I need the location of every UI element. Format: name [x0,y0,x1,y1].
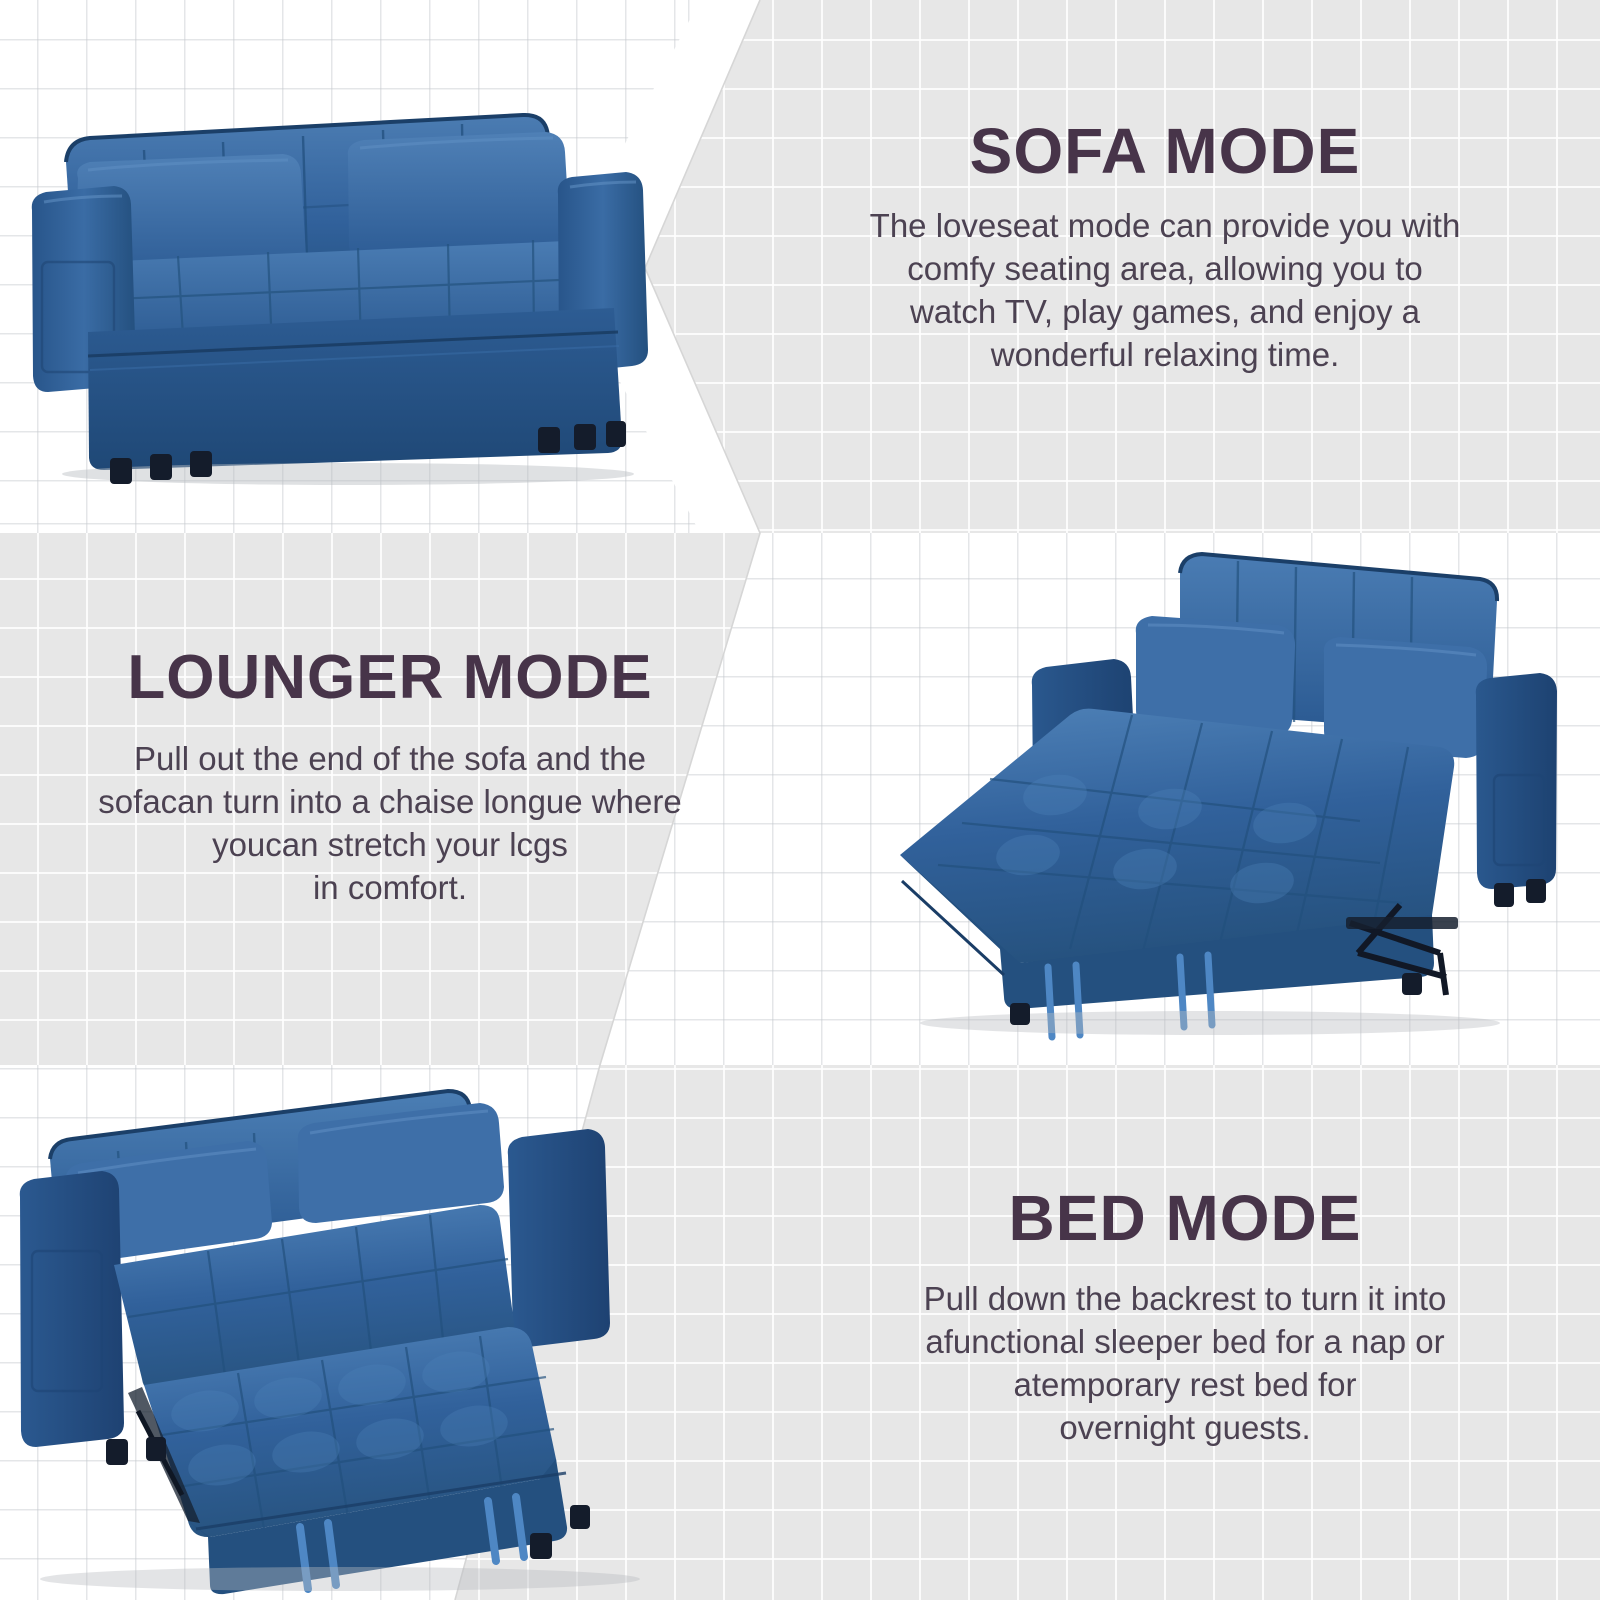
sofa-mode-text-block: SOFA MODE The loveseat mode can provide … [770,118,1560,377]
description-line: atemporary rest bed for [800,1364,1570,1407]
description-line: afunctional sleeper bed for a nap or [800,1321,1570,1364]
description-line: comfy seating area, allowing you to [770,248,1560,291]
description-line: Pull out the end of the sofa and the [10,738,770,781]
description-line: Pull down the backrest to turn it into [800,1278,1570,1321]
lounger-mode-description: Pull out the end of the sofa and the sof… [10,738,770,910]
bed-mode-description: Pull down the backrest to turn it into a… [800,1278,1570,1450]
description-line: The loveseat mode can provide you with [770,205,1560,248]
description-line: sofacan turn into a chaise longue where [10,781,770,824]
bed-mode-heading: BED MODE [800,1185,1570,1252]
description-line: wonderful relaxing time. [770,334,1560,377]
sofa-mode-photo [18,70,658,490]
sofa-mode-description: The loveseat mode can provide you with c… [770,205,1560,377]
infographic-canvas: SOFA MODE The loveseat mode can provide … [0,0,1600,1600]
lounger-mode-heading: LOUNGER MODE [10,645,770,710]
sofa-mode-heading: SOFA MODE [770,118,1560,185]
description-line: youcan stretch your lcgs [10,824,770,867]
bed-mode-text-block: BED MODE Pull down the backrest to turn … [800,1185,1570,1450]
description-line: overnight guests. [800,1407,1570,1450]
lounger-mode-photo [880,525,1560,1045]
lounger-mode-text-block: LOUNGER MODE Pull out the end of the sof… [10,645,770,910]
description-line: in comfort. [10,867,770,910]
bed-mode-photo [10,1055,710,1595]
description-line: watch TV, play games, and enjoy a [770,291,1560,334]
